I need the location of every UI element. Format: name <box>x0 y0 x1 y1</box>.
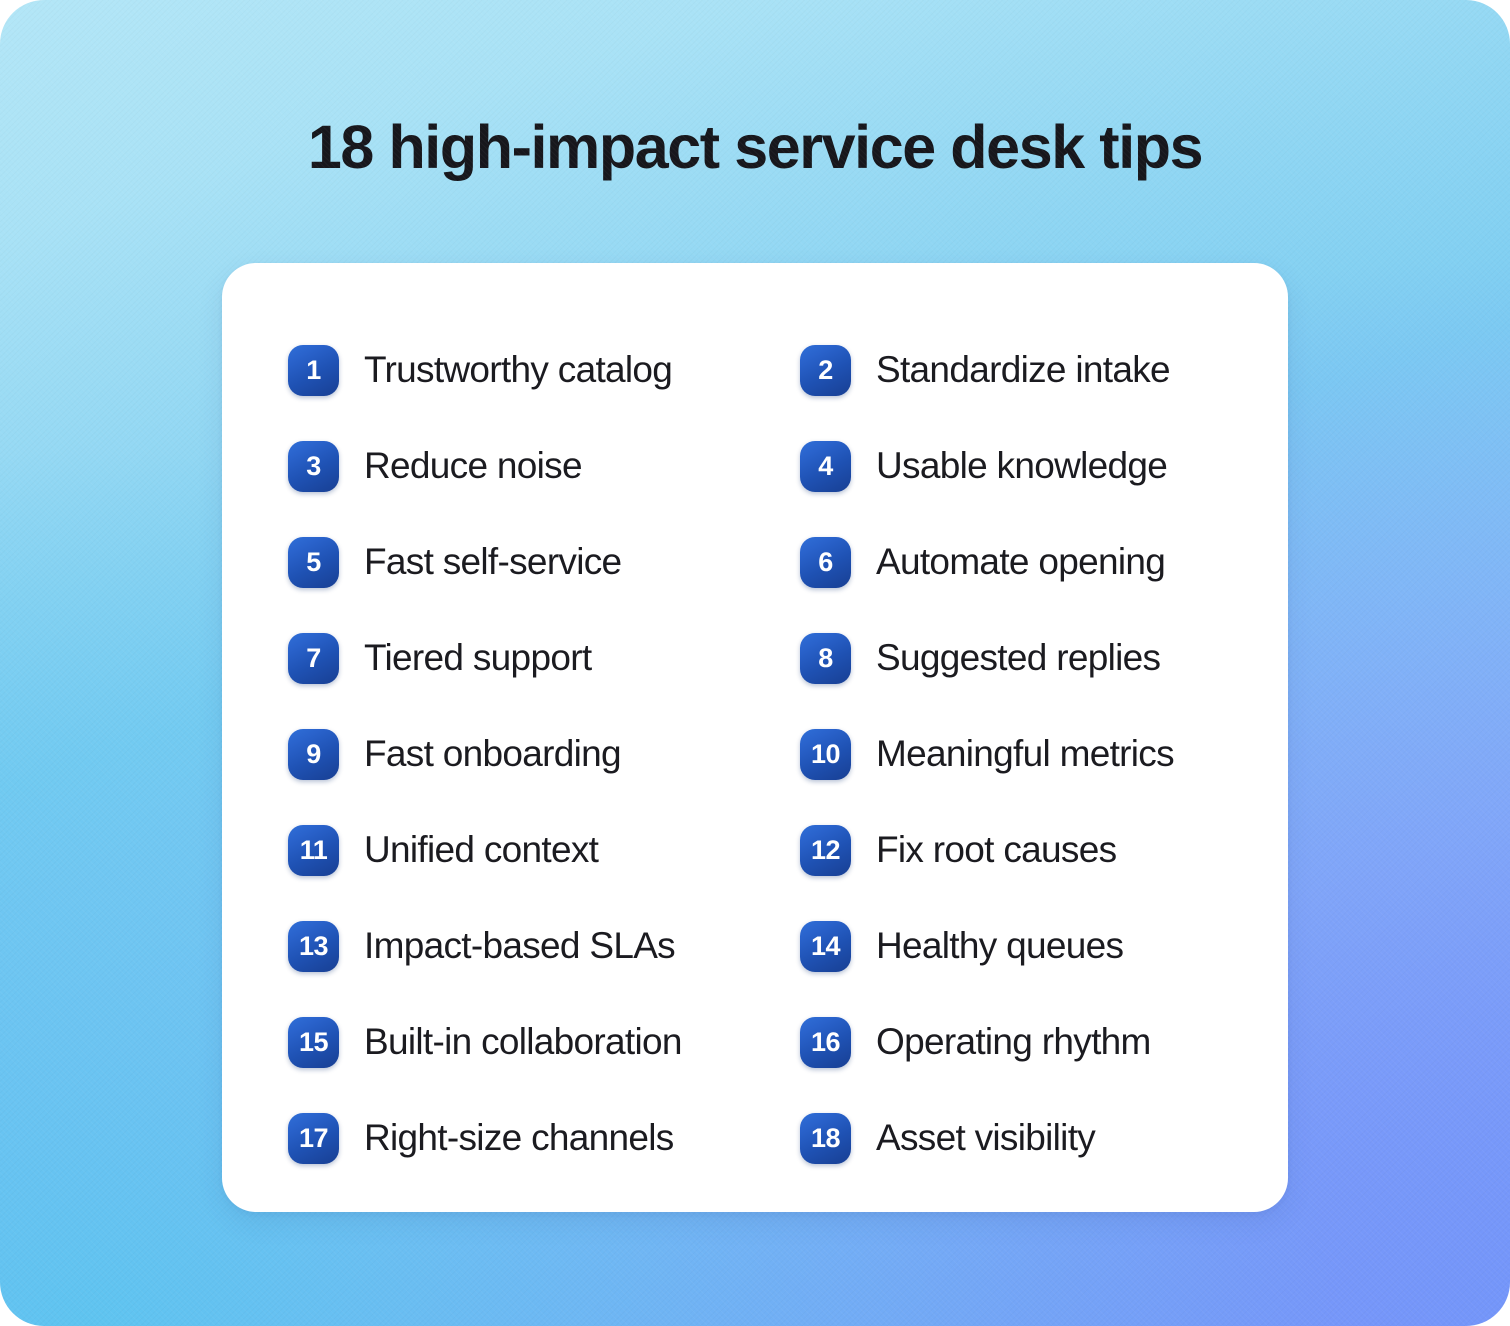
tip-label: Operating rhythm <box>876 1020 1151 1064</box>
tip-label: Asset visibility <box>876 1116 1095 1160</box>
tip-row: 9Fast onboarding <box>288 706 800 802</box>
tip-row: 8Suggested replies <box>800 610 1222 706</box>
tip-label: Right-size channels <box>364 1116 674 1160</box>
tip-label: Standardize intake <box>876 348 1170 392</box>
tip-row: 7Tiered support <box>288 610 800 706</box>
tip-number-badge: 7 <box>288 633 339 684</box>
tip-number-badge: 13 <box>288 921 339 972</box>
tip-row: 10Meaningful metrics <box>800 706 1222 802</box>
tip-row: 18Asset visibility <box>800 1090 1222 1186</box>
tip-row: 14Healthy queues <box>800 898 1222 994</box>
tip-number-badge: 3 <box>288 441 339 492</box>
tip-number-badge: 18 <box>800 1113 851 1164</box>
tip-number-badge: 8 <box>800 633 851 684</box>
tip-row: 17Right-size channels <box>288 1090 800 1186</box>
tip-label: Fix root causes <box>876 828 1116 872</box>
tip-label: Fast self-service <box>364 540 621 584</box>
tip-label: Fast onboarding <box>364 732 621 776</box>
tip-label: Healthy queues <box>876 924 1123 968</box>
tips-grid: 1Trustworthy catalog2Standardize intake3… <box>288 322 1222 1186</box>
tip-label: Automate opening <box>876 540 1165 584</box>
tip-number-badge: 5 <box>288 537 339 588</box>
tip-label: Usable knowledge <box>876 444 1167 488</box>
tip-number-badge: 9 <box>288 729 339 780</box>
tip-number-badge: 6 <box>800 537 851 588</box>
tips-card: 1Trustworthy catalog2Standardize intake3… <box>222 263 1288 1212</box>
tip-row: 5Fast self-service <box>288 514 800 610</box>
tip-row: 15Built-in collaboration <box>288 994 800 1090</box>
tip-row: 2Standardize intake <box>800 322 1222 418</box>
tip-row: 13Impact-based SLAs <box>288 898 800 994</box>
tip-label: Built-in collaboration <box>364 1020 682 1064</box>
tip-row: 6Automate opening <box>800 514 1222 610</box>
tip-number-badge: 2 <box>800 345 851 396</box>
tip-label: Reduce noise <box>364 444 582 488</box>
tip-row: 16Operating rhythm <box>800 994 1222 1090</box>
tip-number-badge: 4 <box>800 441 851 492</box>
tip-number-badge: 14 <box>800 921 851 972</box>
tip-label: Tiered support <box>364 636 591 680</box>
tip-number-badge: 15 <box>288 1017 339 1068</box>
tip-row: 4Usable knowledge <box>800 418 1222 514</box>
tip-row: 3Reduce noise <box>288 418 800 514</box>
tip-number-badge: 16 <box>800 1017 851 1068</box>
tip-number-badge: 11 <box>288 825 339 876</box>
tip-number-badge: 17 <box>288 1113 339 1164</box>
tip-label: Unified context <box>364 828 598 872</box>
tip-row: 1Trustworthy catalog <box>288 322 800 418</box>
tip-number-badge: 1 <box>288 345 339 396</box>
tip-number-badge: 12 <box>800 825 851 876</box>
tip-number-badge: 10 <box>800 729 851 780</box>
tip-row: 12Fix root causes <box>800 802 1222 898</box>
tip-label: Impact-based SLAs <box>364 924 675 968</box>
tip-row: 11Unified context <box>288 802 800 898</box>
tip-label: Suggested replies <box>876 636 1160 680</box>
poster-canvas: 18 high-impact service desk tips 1Trustw… <box>0 0 1510 1326</box>
tip-label: Trustworthy catalog <box>364 348 672 392</box>
page-title: 18 high-impact service desk tips <box>0 112 1510 182</box>
tip-label: Meaningful metrics <box>876 732 1174 776</box>
